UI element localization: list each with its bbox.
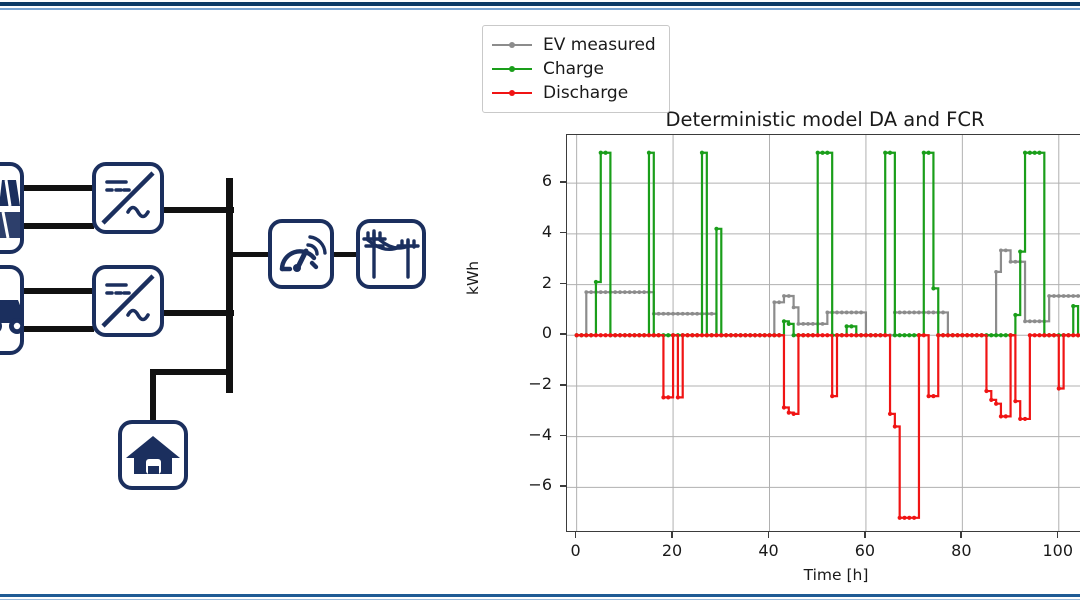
y-tick-label: 4 — [512, 222, 552, 241]
legend-swatch-charge — [492, 63, 532, 75]
legend-label-discharge: Discharge — [543, 83, 628, 103]
legend-item-ev-measured[interactable]: EV measured — [492, 33, 656, 57]
x-tick-mark — [575, 532, 577, 538]
slide-canvas: Deterministic model DA and FCR kWh Time … — [0, 0, 1080, 608]
diagram-node-house[interactable] — [118, 420, 188, 490]
x-tick-label: 20 — [649, 541, 695, 560]
matplotlib-figure: Deterministic model DA and FCR kWh Time … — [470, 10, 1080, 596]
plot-svg — [567, 135, 1080, 532]
legend-swatch-discharge — [492, 87, 532, 99]
busbar — [226, 178, 233, 393]
y-tick-label: 2 — [512, 273, 552, 292]
y-tick-label: −4 — [512, 425, 552, 444]
wire-inverter-ev-to-bus — [162, 310, 234, 316]
y-tick-label: 0 — [512, 323, 552, 342]
x-tick-mark — [671, 532, 673, 538]
plot-area — [566, 134, 1080, 532]
series-markers-discharge — [575, 333, 1080, 520]
electric-car-icon — [0, 269, 24, 353]
diagram-node-solar-panel[interactable] — [0, 162, 24, 254]
x-tick-label: 100 — [1035, 541, 1080, 560]
y-axis-label: kWh — [464, 261, 482, 295]
chart-legend[interactable]: EV measured Charge Discharge — [482, 25, 670, 113]
legend-label-charge: Charge — [543, 59, 604, 79]
house-icon — [122, 424, 184, 486]
slide-top-border-dark — [0, 2, 1080, 6]
series-line-charge — [577, 153, 1080, 336]
wire-ev-to-inverter-lower — [22, 326, 94, 332]
series-markers-charge — [575, 151, 1080, 338]
single-line-diagram — [0, 140, 470, 520]
legend-swatch-ev-measured — [492, 39, 532, 51]
x-tick-label: 60 — [842, 541, 888, 560]
y-tick-label: 6 — [512, 171, 552, 190]
x-tick-label: 0 — [553, 541, 599, 560]
y-tick-label: −2 — [512, 374, 552, 393]
x-tick-label: 80 — [938, 541, 984, 560]
diagram-node-inverter-pv[interactable] — [92, 162, 164, 234]
diagram-node-grid[interactable] — [356, 219, 426, 289]
slide-bottom-border-light — [0, 599, 1080, 600]
wire-inverter-pv-to-bus — [162, 207, 234, 213]
diagram-node-inverter-ev[interactable] — [92, 265, 164, 337]
smart-meter-icon — [272, 223, 330, 285]
dc-ac-inverter-icon — [96, 269, 160, 333]
x-tick-mark — [864, 532, 866, 538]
diagram-node-smart-meter[interactable] — [268, 219, 334, 289]
solar-panel-icon — [0, 166, 24, 252]
x-tick-label: 40 — [746, 541, 792, 560]
x-tick-mark — [960, 532, 962, 538]
x-tick-mark — [768, 532, 770, 538]
dc-ac-inverter-icon — [96, 166, 160, 230]
y-tick-label: −6 — [512, 475, 552, 494]
wire-ev-to-inverter-upper — [22, 288, 94, 294]
legend-label-ev-measured: EV measured — [543, 35, 656, 55]
diagram-node-electric-vehicle[interactable] — [0, 265, 24, 355]
wire-pv-to-inverter-upper — [22, 185, 94, 191]
legend-item-charge[interactable]: Charge — [492, 57, 656, 81]
power-line-pole-icon — [360, 223, 422, 285]
wire-bus-to-house-horizontal — [150, 369, 232, 375]
wire-pv-to-inverter-lower — [22, 223, 94, 229]
series-line-discharge — [577, 335, 1080, 518]
x-tick-mark — [1057, 532, 1059, 538]
legend-item-discharge[interactable]: Discharge — [492, 81, 656, 105]
x-axis-label: Time [h] — [566, 566, 1080, 584]
series-line-ev-measured — [577, 250, 1080, 335]
